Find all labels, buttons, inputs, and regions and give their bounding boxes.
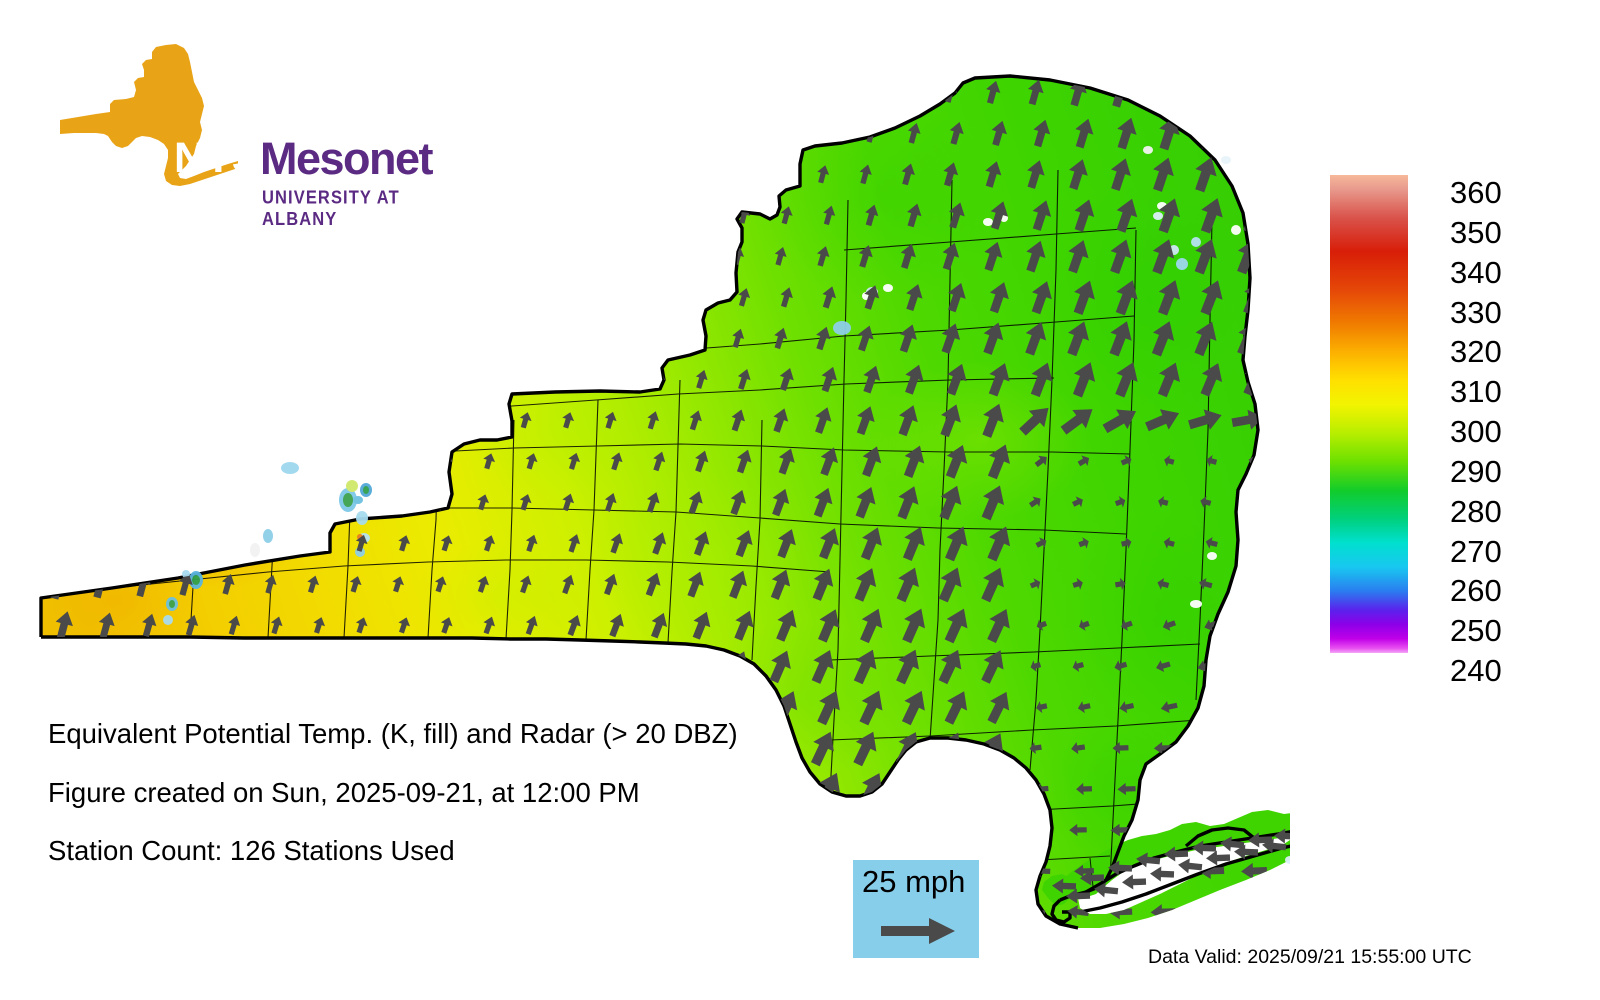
wind-arrow xyxy=(645,247,661,266)
caption-station-count: Station Count: 126 Stations Used xyxy=(48,835,738,867)
wind-arrow xyxy=(308,282,330,312)
wind-arrow xyxy=(436,118,457,147)
wind-arrow xyxy=(262,656,279,676)
wind-arrow xyxy=(811,850,847,892)
wind-arrow xyxy=(602,329,618,348)
wind-arrow xyxy=(258,239,283,273)
wind-arrow xyxy=(264,281,288,314)
wind-arrow xyxy=(431,244,449,269)
wind-arrow xyxy=(769,768,805,810)
wind-arrow xyxy=(172,320,198,356)
wind-arrow xyxy=(46,651,70,681)
wind-arrow xyxy=(87,237,115,276)
logo-nys-text: NYS xyxy=(174,137,259,180)
wind-arrow xyxy=(521,694,542,720)
wind-arrow xyxy=(474,655,492,677)
colorbar-tick-330: 330 xyxy=(1450,297,1502,328)
colorbar-gradient xyxy=(1330,175,1408,653)
logo-subtitle: UNIVERSITY AT ALBANY xyxy=(262,188,428,231)
wind-arrow xyxy=(259,322,282,353)
wind-arrow xyxy=(979,896,1007,928)
wind-arrow xyxy=(390,409,407,430)
wind-arrow xyxy=(224,531,243,556)
wind-arrow xyxy=(681,649,710,684)
wind-arrow xyxy=(891,810,926,850)
wind-arrow xyxy=(523,121,541,145)
wind-arrow xyxy=(86,319,114,358)
wind-arrow xyxy=(557,653,579,679)
wind-arrow xyxy=(517,246,533,267)
wind-arrow xyxy=(131,486,155,518)
wind-arrow xyxy=(848,809,884,850)
wind-arrow xyxy=(135,196,163,235)
wind-arrow xyxy=(216,321,241,355)
wind-arrow xyxy=(593,892,627,932)
wind-speed-legend: 25 mph xyxy=(853,860,979,958)
wind-arrow xyxy=(90,652,112,680)
wind-arrow xyxy=(516,654,535,678)
wind-arrow xyxy=(44,237,72,276)
wind-arrow xyxy=(305,656,322,675)
wind-arrow xyxy=(687,247,703,266)
wind-arrow xyxy=(469,896,497,929)
wind-arrow xyxy=(93,360,121,398)
wind-arrow xyxy=(1148,74,1177,111)
wind-arrow xyxy=(347,409,365,432)
colorbar-tick-260: 260 xyxy=(1450,575,1502,606)
wind-arrow xyxy=(262,902,280,923)
wind-arrow xyxy=(134,902,151,921)
wind-arrow xyxy=(438,696,456,718)
wind-arrow xyxy=(609,206,625,225)
wind-arrow xyxy=(429,76,452,107)
wind-arrow xyxy=(221,280,247,315)
colorbar-tick-360: 360 xyxy=(1450,177,1502,208)
wind-arrow xyxy=(566,288,582,307)
wind-arrow xyxy=(645,328,661,347)
wind-arrow xyxy=(693,287,709,307)
wind-arrow xyxy=(940,770,974,809)
wind-arrow xyxy=(353,450,370,471)
wind-arrow xyxy=(694,206,710,225)
wind-arrow xyxy=(223,447,245,475)
wind-arrow xyxy=(608,369,624,388)
wind-arrow xyxy=(603,247,619,266)
wind-arrow xyxy=(345,241,367,271)
wind-arrow xyxy=(353,697,370,716)
wind-arrow xyxy=(174,487,197,517)
wind-arrow xyxy=(44,401,72,439)
wind-arrow xyxy=(396,368,413,390)
wind-arrow xyxy=(396,451,412,471)
wind-arrow xyxy=(346,325,366,351)
wind-arrow xyxy=(44,484,71,521)
wind-arrow xyxy=(49,901,67,922)
colorbar-tick-labels: 360350340330320310300290280270260250240 xyxy=(1450,160,1590,670)
wind-arrow xyxy=(517,162,534,185)
right-arrow-icon xyxy=(881,916,957,946)
wind-arrow xyxy=(474,161,493,186)
wind-arrow xyxy=(87,401,114,438)
wind-arrow xyxy=(96,694,116,720)
wind-arrow xyxy=(222,363,246,395)
wind-arrow xyxy=(129,237,157,276)
wind-arrow xyxy=(480,203,498,226)
wind-arrow xyxy=(688,165,704,183)
wind-arrow xyxy=(92,902,109,922)
wind-arrow xyxy=(768,850,805,892)
wind-arrow xyxy=(560,246,576,265)
wind-arrow xyxy=(934,811,967,849)
wind-arrow xyxy=(130,402,156,437)
wind-arrow xyxy=(268,697,285,716)
wind-arrow xyxy=(635,891,671,932)
wind-arrow xyxy=(651,123,667,142)
wind-arrow xyxy=(566,122,582,144)
wind-arrow xyxy=(603,164,619,184)
wind-arrow xyxy=(762,809,798,851)
colorbar-tick-270: 270 xyxy=(1450,536,1502,567)
wind-speed-label: 25 mph xyxy=(862,865,965,899)
wind-arrow xyxy=(560,329,576,348)
wind-arrow xyxy=(645,165,661,184)
wind-arrow xyxy=(720,891,757,933)
wind-arrow xyxy=(821,123,837,143)
wind-arrow xyxy=(516,79,535,105)
colorbar-tick-340: 340 xyxy=(1450,257,1502,288)
wind-arrow xyxy=(481,369,497,388)
wind-arrow xyxy=(640,650,666,682)
wind-arrow xyxy=(309,366,329,393)
wind-arrow xyxy=(900,81,917,102)
wind-arrow xyxy=(390,656,407,675)
wind-arrow xyxy=(389,326,407,350)
wind-arrow xyxy=(1201,699,1222,715)
wind-arrow xyxy=(510,894,540,929)
wind-arrow xyxy=(430,160,451,188)
wind-arrow xyxy=(694,124,710,143)
wind-arrow xyxy=(50,442,78,479)
wind-arrow xyxy=(687,328,704,349)
wind-arrow xyxy=(345,900,365,924)
wind-arrow xyxy=(475,245,492,267)
wind-arrow xyxy=(779,124,795,143)
wind-arrow xyxy=(390,492,406,512)
wind-arrow xyxy=(1159,782,1180,796)
colorbar-tick-250: 250 xyxy=(1450,615,1502,646)
wind-arrow xyxy=(481,287,497,308)
wind-arrow xyxy=(984,854,1013,887)
wind-arrow xyxy=(815,83,831,102)
colorbar xyxy=(1330,175,1408,653)
wind-arrow xyxy=(1236,740,1259,755)
wind-arrow xyxy=(983,771,1015,808)
wind-arrow xyxy=(603,81,619,103)
wind-arrow xyxy=(177,655,195,678)
wind-arrow xyxy=(1244,616,1265,633)
wind-arrow xyxy=(1242,781,1267,797)
colorbar-tick-280: 280 xyxy=(1450,496,1502,527)
wind-arrow xyxy=(1237,112,1270,153)
nys-mesonet-logo: NYS Mesonet UNIVERSITY AT ALBANY xyxy=(48,42,428,192)
wind-arrow xyxy=(438,369,454,389)
wind-arrow xyxy=(87,485,113,520)
wind-arrow xyxy=(53,693,75,721)
wind-arrow xyxy=(559,80,576,104)
wind-arrow xyxy=(135,278,163,316)
wind-arrow xyxy=(93,196,121,235)
wind-arrow xyxy=(311,533,328,554)
wind-arrow xyxy=(479,120,499,147)
wind-arrow xyxy=(51,526,77,561)
wind-arrow xyxy=(1192,903,1218,920)
wind-arrow xyxy=(688,83,703,102)
wind-arrow xyxy=(352,367,370,391)
wind-arrow xyxy=(395,284,414,309)
wind-arrow xyxy=(1239,576,1257,592)
data-valid-timestamp: Data Valid: 2025/09/21 15:55:00 UTC xyxy=(1148,946,1472,969)
wind-arrow xyxy=(560,163,576,184)
wind-arrow xyxy=(473,78,494,107)
wind-arrow xyxy=(173,404,198,437)
wind-arrow xyxy=(1241,495,1256,510)
wind-arrow xyxy=(178,196,205,234)
wind-arrow xyxy=(479,695,498,718)
colorbar-tick-350: 350 xyxy=(1450,217,1502,248)
wind-arrow xyxy=(609,123,625,143)
wind-arrow xyxy=(51,196,78,234)
wind-arrow xyxy=(140,695,158,718)
wind-arrow xyxy=(978,812,1009,847)
wind-arrow xyxy=(475,328,491,348)
wind-arrow xyxy=(552,893,584,931)
wind-arrow xyxy=(133,653,153,678)
wind-arrow xyxy=(94,527,119,560)
wind-arrow xyxy=(311,697,328,716)
wind-arrow xyxy=(1246,535,1262,550)
wind-arrow xyxy=(219,655,236,676)
wind-arrow xyxy=(304,901,323,923)
caption-title: Equivalent Potential Temp. (K, fill) and… xyxy=(48,718,738,750)
wind-arrow xyxy=(136,444,161,477)
wind-arrow xyxy=(566,205,582,225)
wind-arrow xyxy=(347,656,364,675)
wind-arrow xyxy=(566,370,582,389)
wind-arrow xyxy=(517,328,533,347)
wind-arrow xyxy=(221,196,248,233)
logo-mesonet-text: Mesonet xyxy=(260,136,432,181)
wind-arrow xyxy=(181,529,202,556)
wind-arrow xyxy=(432,410,448,430)
colorbar-tick-320: 320 xyxy=(1450,336,1502,367)
wind-arrow xyxy=(438,286,455,309)
wind-arrow xyxy=(260,406,281,434)
wind-arrow xyxy=(857,82,873,102)
wind-arrow xyxy=(302,324,324,353)
wind-arrow xyxy=(762,891,798,933)
wind-arrow xyxy=(432,656,449,676)
wind-arrow xyxy=(217,405,240,435)
wind-arrow xyxy=(351,283,372,311)
wind-arrow xyxy=(1190,73,1221,112)
wind-arrow xyxy=(805,809,841,851)
wind-arrow xyxy=(1122,874,1147,890)
wind-arrow xyxy=(261,490,280,514)
wind-arrow xyxy=(428,897,453,927)
wind-arrow xyxy=(730,83,745,101)
wind-arrow xyxy=(523,370,539,389)
wind-arrow xyxy=(50,277,78,316)
wind-arrow xyxy=(1242,698,1266,716)
wind-arrow xyxy=(523,204,539,225)
wind-arrow xyxy=(609,288,625,307)
wind-arrow xyxy=(388,242,408,269)
wind-arrow xyxy=(1200,781,1223,796)
wind-arrow xyxy=(50,360,78,399)
wind-arrow xyxy=(524,287,540,307)
wind-arrow xyxy=(651,206,667,225)
wind-arrow xyxy=(736,124,752,142)
wind-arrow xyxy=(387,898,410,925)
wind-arrow xyxy=(218,489,239,516)
wind-arrow xyxy=(179,362,204,396)
wind-arrow xyxy=(303,407,322,432)
wind-arrow xyxy=(599,651,623,680)
wind-arrow xyxy=(304,491,321,513)
wind-arrow xyxy=(215,238,241,274)
wind-arrow xyxy=(772,164,788,183)
wind-arrow xyxy=(138,528,161,558)
wind-arrow xyxy=(180,446,203,477)
wind-arrow xyxy=(301,240,325,272)
wind-arrow xyxy=(178,279,205,316)
figure-caption: Equivalent Potential Temp. (K, fill) and… xyxy=(48,718,738,894)
colorbar-tick-290: 290 xyxy=(1450,456,1502,487)
wind-arrow xyxy=(395,697,412,717)
wind-arrow xyxy=(645,82,661,102)
wind-arrow xyxy=(677,891,713,933)
wind-arrow xyxy=(219,902,236,922)
wind-arrow xyxy=(773,83,788,101)
wind-arrow xyxy=(183,696,200,717)
wind-arrow xyxy=(805,892,841,933)
wind-arrow xyxy=(1237,658,1259,675)
wind-arrow xyxy=(92,278,120,317)
wind-arrow xyxy=(1232,72,1264,112)
wind-arrow xyxy=(1150,866,1175,882)
wind-arrow xyxy=(475,410,491,429)
wind-arrow xyxy=(1028,824,1043,837)
wind-arrow xyxy=(226,697,243,717)
wind-arrow xyxy=(1195,741,1216,755)
colorbar-tick-300: 300 xyxy=(1450,416,1502,447)
colorbar-tick-240: 240 xyxy=(1450,655,1502,686)
wind-arrow xyxy=(896,769,931,810)
wind-arrow xyxy=(266,364,288,393)
wind-arrow xyxy=(44,318,72,357)
wind-arrow xyxy=(129,319,156,356)
wind-arrow xyxy=(1235,903,1262,920)
wind-arrow xyxy=(651,288,667,307)
caption-created: Figure created on Sun, 2025-09-21, at 12… xyxy=(48,777,738,809)
wind-arrow xyxy=(172,237,199,275)
colorbar-tick-310: 310 xyxy=(1450,376,1502,407)
wind-arrow xyxy=(730,165,746,184)
wind-arrow xyxy=(93,443,120,479)
wind-arrow xyxy=(177,902,194,921)
wind-arrow xyxy=(432,327,448,349)
wind-arrow xyxy=(437,202,456,228)
wind-arrow xyxy=(1231,153,1265,195)
wind-arrow xyxy=(136,361,163,397)
